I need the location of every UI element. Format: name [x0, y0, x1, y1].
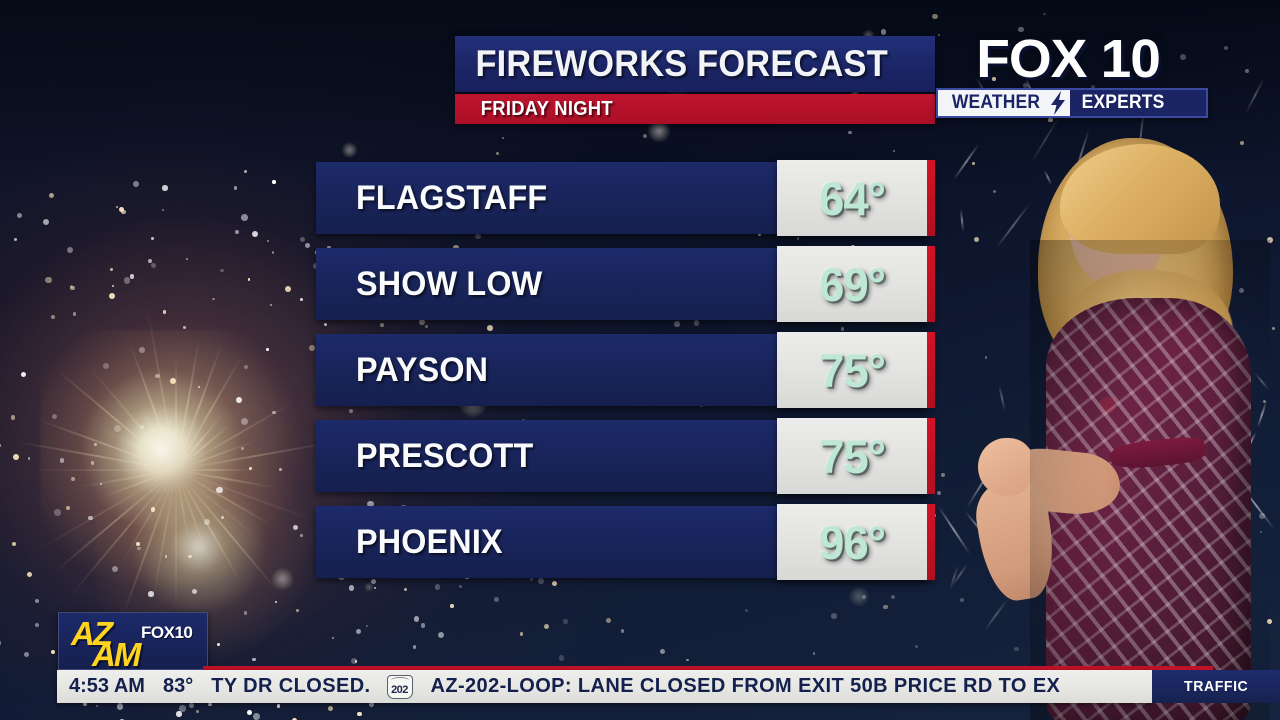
temperature-box: 69° [777, 246, 927, 322]
temperature-value: 69° [819, 257, 885, 312]
temperature-box: 75° [777, 418, 927, 494]
city-name: PHOENIX [356, 506, 503, 578]
temperature-value: 96° [819, 515, 885, 570]
badge-right: EXPERTS [1070, 90, 1206, 116]
temperature-box: 96° [777, 504, 927, 580]
forecast-row: PAYSON75° [316, 334, 932, 406]
forecast-row: PHOENIX96° [316, 506, 932, 578]
page-subtitle: FRIDAY NIGHT [455, 98, 613, 121]
show-logo: AZ AM FOX10 [58, 612, 208, 670]
ticker-category-label: TRAFFIC [1184, 678, 1248, 695]
highway-shield-icon: 202 [387, 675, 413, 699]
badge-weather-label: WEATHER [952, 92, 1040, 114]
city-name: FLAGSTAFF [356, 162, 547, 234]
hand [978, 438, 1034, 496]
temperature-box: 64° [777, 160, 927, 236]
city-name: SHOW LOW [356, 248, 542, 320]
ticker-crawl-rest: AZ-202-LOOP: LANE CLOSED FROM EXIT 50B P… [413, 675, 1061, 698]
forecast-row: PRESCOTT75° [316, 420, 932, 492]
temperature-box: 75° [777, 332, 927, 408]
station-logo: FOX 10 WEATHER EXPERTS [930, 22, 1220, 126]
badge-experts-label: EXPERTS [1082, 92, 1165, 114]
forecast-row: FLAGSTAFF64° [316, 162, 932, 234]
city-name: PAYSON [356, 334, 488, 406]
lightning-bolt-icon [1050, 90, 1070, 116]
badge-left: WEATHER [938, 90, 1050, 116]
weather-experts-badge: WEATHER EXPERTS [936, 88, 1208, 118]
ticker-temperature: 83° [145, 675, 193, 698]
meteorologist [950, 120, 1280, 720]
temperature-value: 75° [819, 343, 885, 398]
ticker-time: 4:53 AM [57, 675, 145, 698]
show-logo-network: FOX10 [141, 623, 192, 643]
forecast-title-banner: FIREWORKS FORECAST [455, 36, 935, 92]
news-ticker[interactable]: 4:53 AM 83° TY DR CLOSED. 202 AZ-202-LOO… [57, 670, 1152, 703]
temperature-value: 64° [819, 171, 885, 226]
show-logo-line2: AM [92, 636, 139, 674]
station-callsign: FOX 10 [976, 28, 1160, 90]
shield-crown [391, 677, 409, 684]
shield-route-number: 202 [391, 685, 408, 698]
forecast-row: SHOW LOW69° [316, 248, 932, 320]
ticker-category-badge[interactable]: TRAFFIC [1152, 670, 1280, 703]
city-name: PRESCOTT [356, 420, 533, 492]
page-title: FIREWORKS FORECAST [455, 43, 888, 85]
forecast-subtitle-banner: FRIDAY NIGHT [455, 94, 935, 124]
forecast-table: FLAGSTAFF64°SHOW LOW69°PAYSON75°PRESCOTT… [316, 162, 932, 592]
temperature-value: 75° [819, 429, 885, 484]
ticker-crawl-start: TY DR CLOSED. [193, 675, 370, 698]
broadcast-screen: FIREWORKS FORECAST FRIDAY NIGHT FOX 10 W… [0, 0, 1280, 720]
